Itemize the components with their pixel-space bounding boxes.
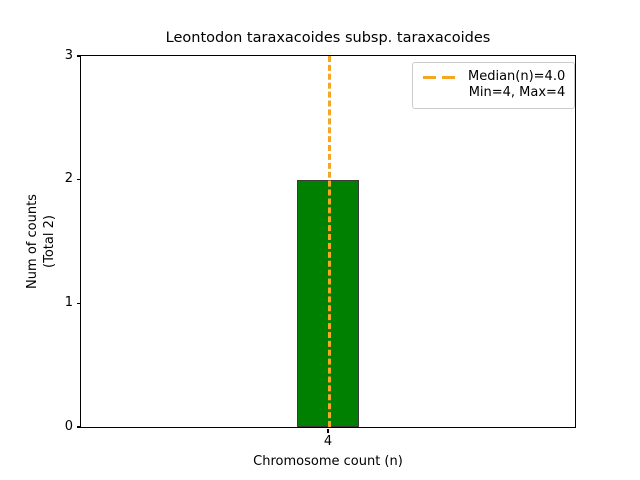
median-line (328, 56, 331, 427)
legend-median-label: Median(n)=4.0 (468, 69, 565, 85)
y-tick-mark (77, 179, 81, 180)
x-tick-mark (327, 429, 328, 433)
plot-area: 3 2 1 0 4 (80, 55, 576, 428)
y-axis-label-line2: (Total 2) (41, 55, 58, 428)
y-axis-label-line1: Num of counts (24, 55, 41, 428)
y-tick-label: 1 (65, 295, 73, 311)
y-tick-label: 2 (65, 171, 73, 187)
legend-minmax-label: Min=4, Max=4 (468, 85, 565, 101)
y-tick-label: 0 (65, 419, 73, 435)
y-tick-mark (77, 426, 81, 427)
legend-dashed-line-icon (422, 69, 460, 85)
legend: Median(n)=4.0 Min=4, Max=4 (412, 62, 575, 109)
x-tick-label: 4 (288, 434, 368, 450)
figure-canvas: Leontodon taraxacoides subsp. taraxacoid… (0, 0, 640, 480)
y-tick-mark (77, 55, 81, 56)
y-tick-label: 3 (65, 48, 73, 64)
y-axis-label: Num of counts (Total 2) (24, 55, 58, 428)
legend-entry-label: Median(n)=4.0 Min=4, Max=4 (468, 69, 565, 101)
x-axis-label: Chromosome count (n) (80, 454, 576, 470)
y-tick-mark (77, 303, 81, 304)
chart-title: Leontodon taraxacoides subsp. taraxacoid… (80, 30, 576, 47)
legend-entry-median: Median(n)=4.0 Min=4, Max=4 (422, 69, 565, 101)
